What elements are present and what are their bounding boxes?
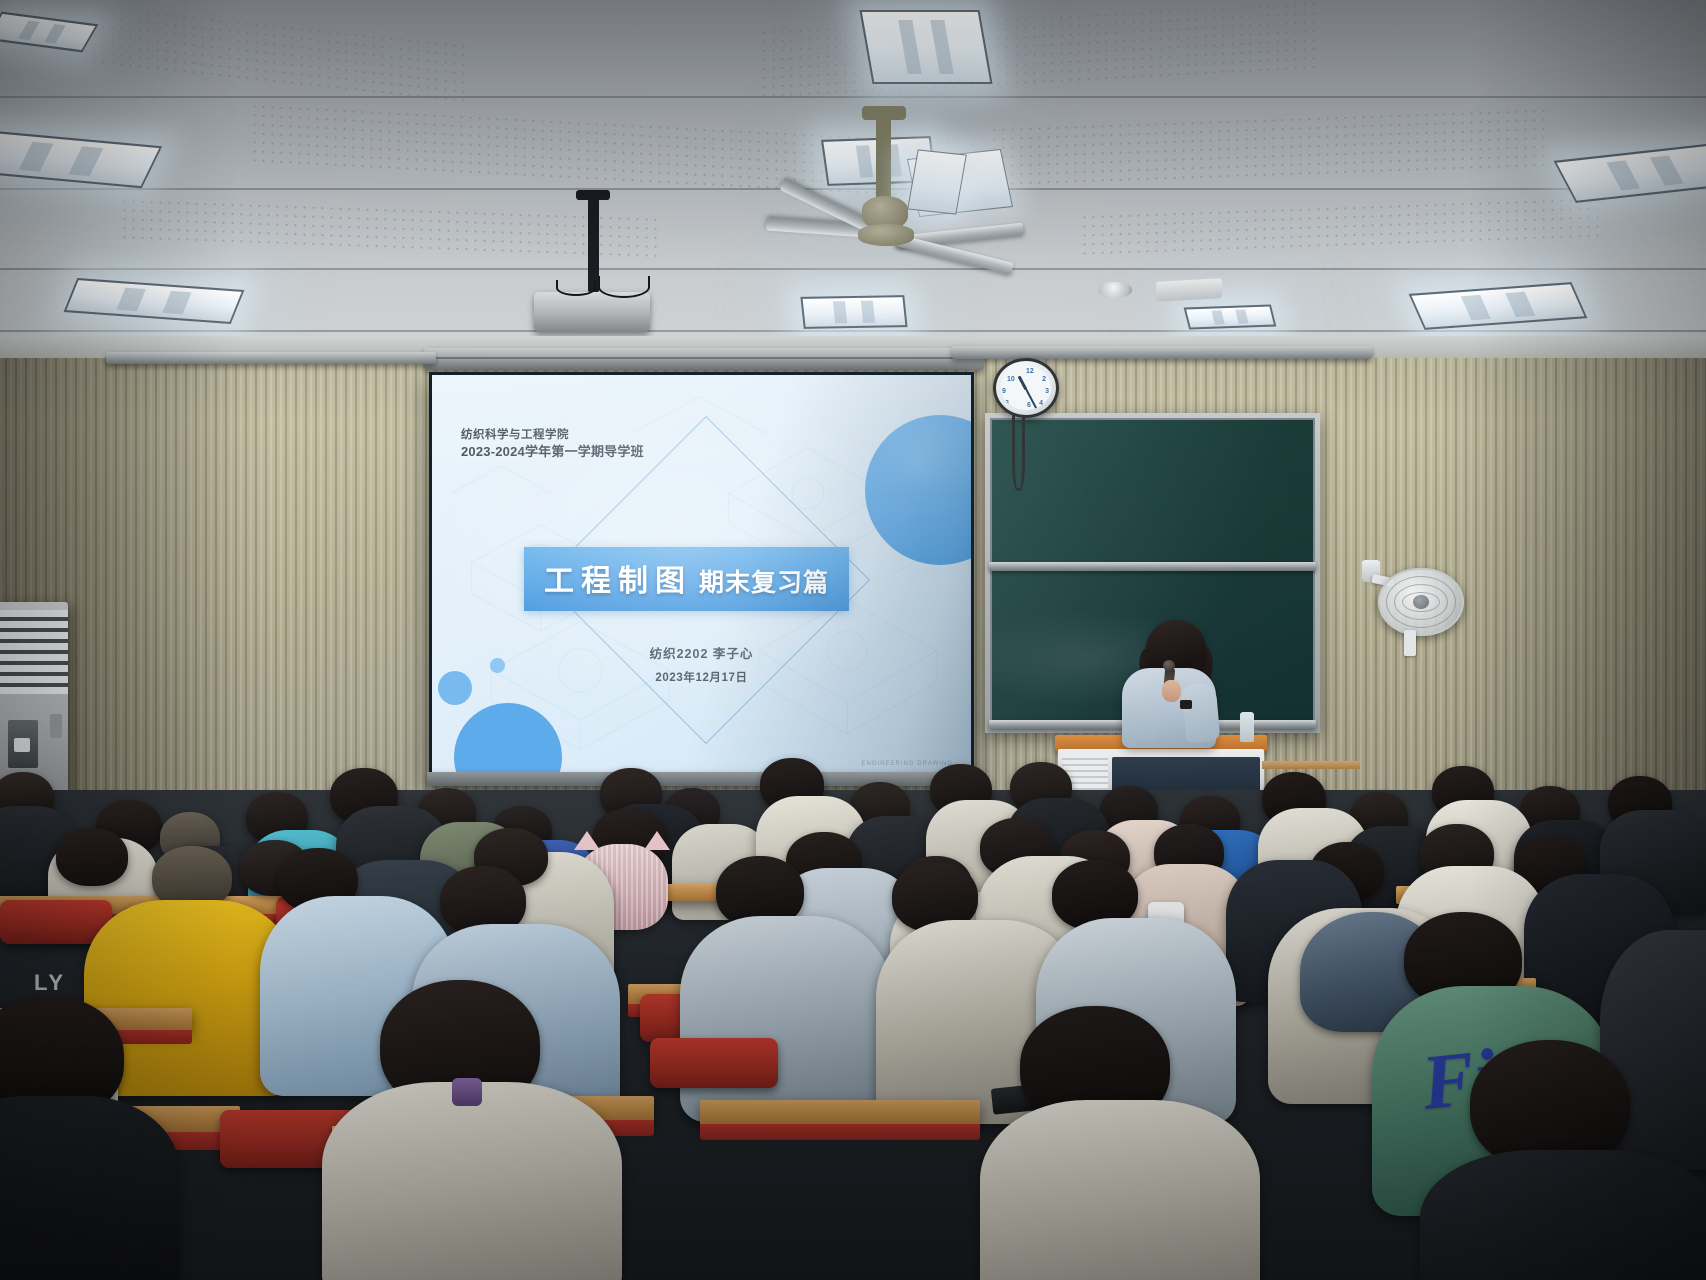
clock-numeral: 10 bbox=[1007, 376, 1015, 383]
screen-track-rail bbox=[952, 346, 1372, 359]
projector-cable bbox=[556, 280, 596, 296]
slide-title-band: 工程制图 期末复习篇 bbox=[524, 547, 849, 611]
ceiling-light-panel bbox=[1184, 304, 1277, 329]
clock-numeral: 12 bbox=[1026, 368, 1034, 375]
chair-back bbox=[650, 1038, 778, 1088]
wall-mounted-fan bbox=[1378, 568, 1464, 636]
slide-date: 2023年12月17日 bbox=[432, 669, 971, 685]
clock-face: 12 2 3 4 6 8 9 10 bbox=[1001, 366, 1051, 410]
slide-footer-mark: ENGINEERING DRAWING bbox=[862, 761, 953, 767]
black-winter-coat bbox=[0, 1096, 180, 1280]
ceiling-light-panel bbox=[1409, 282, 1588, 330]
cream-puffer-coat bbox=[980, 1100, 1260, 1280]
fan-adjacent-light-panel bbox=[907, 149, 967, 214]
slide-title-main: 工程制图 bbox=[544, 556, 692, 600]
acoustic-tile-texture bbox=[1080, 195, 1600, 259]
lecture-hall-photo: 纺织科学与工程学院 2023-2024学年第一学期导学班 工程制图 期末复习篇 … bbox=[0, 0, 1706, 1280]
floor-standing-air-conditioner bbox=[0, 602, 68, 802]
ac-louver-vents bbox=[0, 610, 68, 694]
wall-fan-support bbox=[1404, 630, 1416, 656]
acoustic-tile-texture bbox=[0, 0, 470, 109]
slide-org-heading: 纺织科学与工程学院 2023-2024学年第一学期导学班 bbox=[461, 427, 644, 462]
wristwatch bbox=[1180, 700, 1192, 709]
acoustic-tile-texture bbox=[760, 0, 1320, 99]
ceiling-light-panel bbox=[0, 130, 162, 189]
clock-numeral: 6 bbox=[1027, 402, 1031, 409]
student-head bbox=[56, 828, 128, 886]
slide-org-line-1: 纺织科学与工程学院 bbox=[461, 427, 644, 443]
clock-numeral: 9 bbox=[1002, 388, 1006, 395]
ac-side-label bbox=[50, 714, 62, 738]
clock-numeral: 4 bbox=[1039, 400, 1043, 407]
wall-speaker bbox=[1156, 278, 1222, 301]
ceiling bbox=[0, 0, 1706, 360]
clock-numeral: 3 bbox=[1045, 388, 1049, 395]
ceiling-light-panel bbox=[1554, 143, 1706, 203]
clock-numeral: 8 bbox=[1005, 400, 1009, 407]
cream-puffer-coat bbox=[322, 1082, 622, 1280]
acoustic-tile-texture bbox=[990, 106, 1550, 186]
ceiling-fan-canopy bbox=[862, 106, 906, 120]
water-bottle bbox=[1240, 712, 1254, 742]
projection-screen-housing bbox=[424, 348, 984, 370]
chalkboard-divider-rail bbox=[989, 562, 1316, 571]
podium-side-shelf bbox=[1262, 761, 1360, 769]
microphone-head bbox=[1163, 660, 1175, 671]
hair-tie bbox=[452, 1078, 482, 1106]
ceiling-fan-downrod bbox=[876, 112, 891, 204]
ceiling-fan-hub bbox=[858, 224, 914, 246]
presenter-arm bbox=[1122, 683, 1161, 744]
desk-apron bbox=[700, 1124, 980, 1140]
wall-clock: 12 2 3 4 6 8 9 10 bbox=[993, 358, 1059, 418]
lecture-desk bbox=[700, 1100, 980, 1126]
slide-org-line-2: 2023-2024学年第一学期导学班 bbox=[461, 443, 644, 461]
ceiling-light-panel bbox=[64, 278, 245, 324]
projector-mount-plate bbox=[576, 190, 610, 200]
projection-screen: 纺织科学与工程学院 2023-2024学年第一学期导学班 工程制图 期末复习篇 … bbox=[429, 372, 974, 780]
wall-fan-hub bbox=[1413, 595, 1429, 609]
acoustic-tile-texture bbox=[120, 197, 660, 264]
student-torso bbox=[680, 916, 892, 1122]
slide-presenter: 纺织2202 李子心 bbox=[432, 643, 971, 662]
jacket-back-mark: LY bbox=[34, 970, 66, 996]
smoke-detector bbox=[1098, 282, 1132, 298]
ac-display bbox=[14, 738, 30, 752]
hanging-cord bbox=[1012, 415, 1025, 491]
black-winter-coat bbox=[1420, 1150, 1706, 1280]
ceiling-light-panel bbox=[800, 295, 907, 329]
clock-numeral: 2 bbox=[1042, 376, 1046, 383]
presenter-hand bbox=[1162, 680, 1181, 702]
presentation-slide: 纺织科学与工程学院 2023-2024学年第一学期导学班 工程制图 期末复习篇 … bbox=[432, 375, 971, 777]
slide-title-sub: 期末复习篇 bbox=[699, 563, 829, 599]
slide-credit: 纺织2202 李子心 2023年12月17日 bbox=[432, 643, 971, 685]
ceiling-light-panel bbox=[859, 10, 992, 84]
screen-track-rail bbox=[106, 352, 436, 364]
projector-cable bbox=[598, 276, 650, 298]
presenter-arm bbox=[1182, 683, 1221, 744]
ceiling-mounted-projector bbox=[534, 292, 650, 332]
